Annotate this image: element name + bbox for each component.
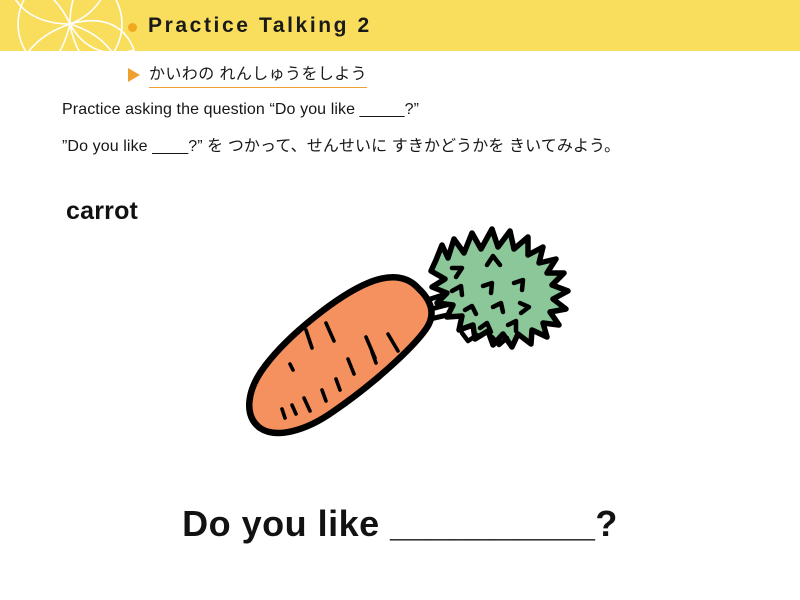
instruction-line-japanese: ”Do you like ____?” を つかって、せんせいに すきかどうかを… — [62, 132, 620, 156]
vocabulary-word-label: carrot — [66, 197, 138, 226]
dot-bullet-icon — [128, 23, 137, 32]
triangle-right-icon — [128, 68, 140, 82]
subtitle-text: かいわの れんしゅうをしよう — [149, 60, 367, 88]
instruction-line-english: Practice asking the question “Do you lik… — [62, 101, 419, 119]
subtitle-row: かいわの れんしゅうをしよう — [128, 60, 367, 88]
carrot-root-icon — [249, 277, 431, 433]
header-band: Practice Talking 2 — [0, 0, 800, 51]
flower-swirl-decoration-icon — [8, 0, 138, 51]
practice-question-prompt: Do you like __________? — [0, 503, 800, 545]
carrot-greens-icon — [431, 229, 568, 347]
carrot-illustration — [240, 215, 585, 455]
header-title-group: Practice Talking 2 — [128, 0, 372, 51]
page-title: Practice Talking 2 — [148, 14, 372, 38]
